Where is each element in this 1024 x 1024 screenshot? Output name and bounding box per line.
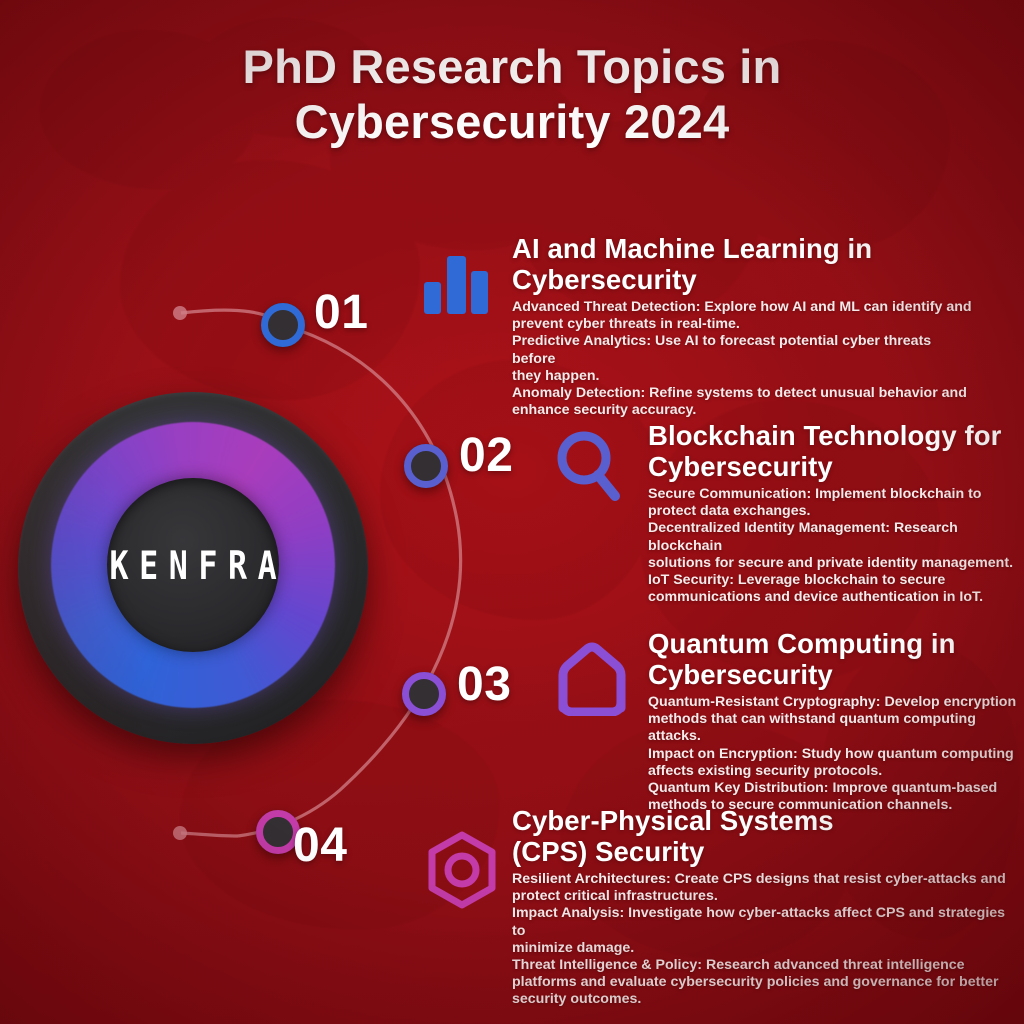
logo-brand-text: KENFRA <box>99 542 287 588</box>
item-heading-04-line2: (CPS) Security <box>512 836 704 867</box>
item-heading-03: Quantum Computing in Cybersecurity <box>648 628 1020 690</box>
node-marker-02[interactable] <box>404 444 448 488</box>
item-heading-03-line1: Quantum Computing in <box>648 628 956 659</box>
item-body-04: Resilient Architectures: Create CPS desi… <box>512 871 1020 1008</box>
item-number-01: 01 <box>314 285 368 340</box>
item-body-02: Secure Communication: Implement blockcha… <box>648 486 1020 606</box>
logo-inner-disc: KENFRA <box>107 478 279 652</box>
item-heading-03-line2: Cybersecurity <box>648 659 833 690</box>
item-body-03: Quantum-Resistant Cryptography: Develop … <box>648 694 1020 814</box>
node-ring-03 <box>402 672 446 716</box>
title-line-2: Cybersecurity 2024 <box>0 95 1024 150</box>
item-heading-01-line2: Cybersecurity <box>512 264 697 295</box>
node-marker-03[interactable] <box>402 672 446 716</box>
title-line-1: PhD Research Topics in <box>243 40 782 93</box>
item-heading-04: Cyber-Physical Systems (CPS) Security <box>512 805 1020 867</box>
hexagon-nut-icon <box>418 828 506 921</box>
item-number-02: 02 <box>459 428 513 483</box>
kenfra-logo: KENFRA <box>18 392 368 744</box>
magnifier-icon <box>551 428 625 513</box>
item-block-04: Cyber-Physical Systems (CPS) Security Re… <box>512 805 1020 1009</box>
item-heading-02-line1: Blockchain Technology for <box>648 420 1001 451</box>
item-heading-01-line1: AI and Machine Learning in <box>512 233 872 264</box>
item-heading-04-line1: Cyber-Physical Systems <box>512 805 834 836</box>
item-block-01: AI and Machine Learning in Cybersecurity… <box>512 233 972 419</box>
page-title: PhD Research Topics in Cybersecurity 202… <box>0 40 1024 149</box>
node-ring-01 <box>261 303 305 347</box>
node-marker-01[interactable] <box>261 303 305 347</box>
node-ring-02 <box>404 444 448 488</box>
item-heading-02: Blockchain Technology for Cybersecurity <box>648 420 1020 482</box>
item-heading-01: AI and Machine Learning in Cybersecurity <box>512 233 972 295</box>
item-body-01: Advanced Threat Detection: Explore how A… <box>512 299 972 419</box>
item-block-03: Quantum Computing in Cybersecurity Quant… <box>648 628 1020 814</box>
item-number-03: 03 <box>457 657 511 712</box>
item-block-02: Blockchain Technology for Cybersecurity … <box>648 420 1020 606</box>
item-number-04: 04 <box>293 818 347 873</box>
infographic-canvas: PhD Research Topics in Cybersecurity 202… <box>0 0 1024 1024</box>
home-outline-icon <box>553 642 631 721</box>
bar-chart-icon <box>424 252 488 314</box>
item-heading-02-line2: Cybersecurity <box>648 451 833 482</box>
